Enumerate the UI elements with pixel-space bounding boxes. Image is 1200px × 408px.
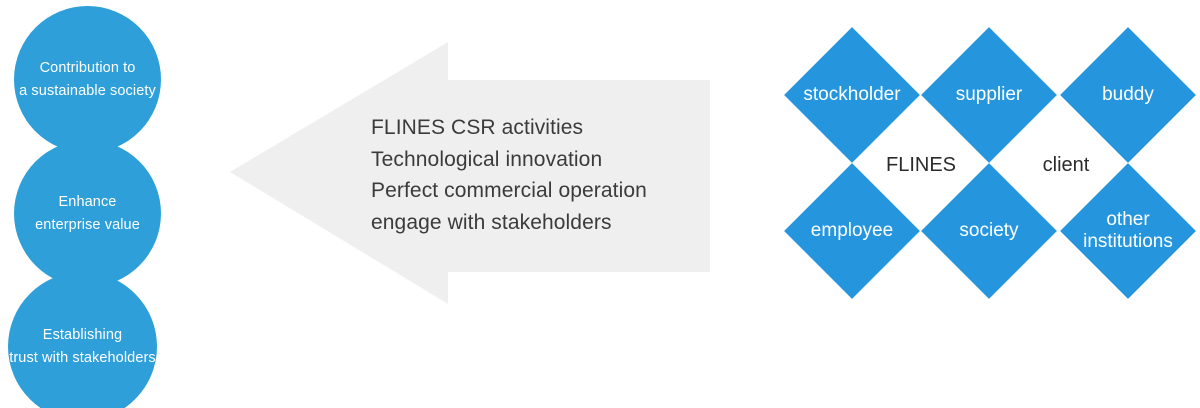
circle-trust-stakeholders: Establishing trust with stakeholders <box>8 272 157 408</box>
diamond-label: society <box>923 220 1055 242</box>
circle-label-line1: Contribution to <box>40 60 136 76</box>
arrow-line-4: engage with stakeholders <box>371 207 691 239</box>
gap-label-flines: FLINES <box>886 154 956 176</box>
diagram-canvas: Contribution to a sustainable society En… <box>0 0 1200 408</box>
circle-label: Enhance enterprise value <box>35 191 140 237</box>
diamond-stockholder: stockholder <box>784 27 920 163</box>
arrow-line-2: Technological innovation <box>371 144 691 176</box>
diamond-supplier: supplier <box>921 27 1057 163</box>
gap-label-client: client <box>1043 154 1090 176</box>
diamond-label: other institutions <box>1062 209 1194 253</box>
diamond-employee: employee <box>784 163 920 299</box>
arrow-line-3: Perfect commercial operation <box>371 175 691 207</box>
circle-enterprise-value: Enhance enterprise value <box>14 140 161 287</box>
diamond-label: employee <box>786 220 918 242</box>
diamond-society: society <box>921 163 1057 299</box>
circle-label: Contribution to a sustainable society <box>19 57 156 103</box>
circle-label-line1: Enhance <box>59 194 117 210</box>
circle-label: Establishing trust with stakeholders <box>9 324 156 370</box>
diamond-buddy: buddy <box>1060 27 1196 163</box>
diamond-label: stockholder <box>786 84 918 106</box>
diamond-other-institutions: other institutions <box>1060 163 1196 299</box>
circle-label-line2: a sustainable society <box>19 83 156 99</box>
circle-label-line2: enterprise value <box>35 217 140 233</box>
circle-label-line1: Establishing <box>43 327 122 343</box>
arrow-line-1: FLINES CSR activities <box>371 112 691 144</box>
diamond-label: supplier <box>923 84 1055 106</box>
circle-label-line2: trust with stakeholders <box>9 350 156 366</box>
arrow-text-block: FLINES CSR activities Technological inno… <box>371 112 691 238</box>
diamond-label: buddy <box>1062 84 1194 106</box>
circle-contribution-society: Contribution to a sustainable society <box>14 6 161 153</box>
